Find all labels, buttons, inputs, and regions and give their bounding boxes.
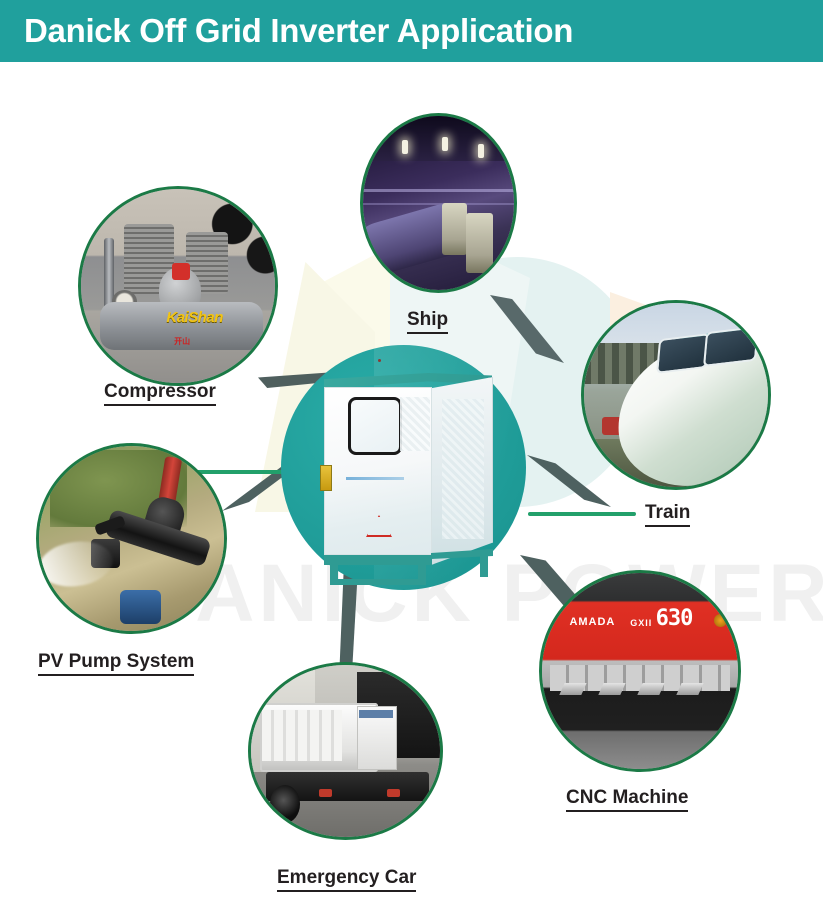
page-title: Danick Off Grid Inverter Application [24,12,573,50]
cnc-clamp-3 [637,683,664,695]
cabinet-side-vent-mesh [442,399,484,539]
compressor-red-fitting [172,263,189,280]
ship-ceiling [363,116,514,161]
cabinet-display-window [348,397,402,455]
cnc-clamp-4 [677,683,704,695]
cnc-emergency-stop-button [714,614,727,627]
label-emergency-car: Emergency Car [277,868,416,892]
emergency-car-tail-light-right [387,789,400,798]
emergency-car-photo [251,665,440,837]
pv-pump-blue-pump-body [120,590,161,623]
ship-lamp-2 [442,137,448,151]
emergency-car-bed-ribs [262,710,341,762]
compressor-brand-sub-label: 开山 [174,336,190,347]
ship-photo [363,116,514,290]
application-photo-train[interactable] [581,300,771,490]
ship-lamp-1 [402,140,408,154]
application-photo-compressor[interactable]: KaiShan 开山 [78,186,278,386]
cnc-model-number-label: 630 [656,606,693,631]
cabinet-top-dot [378,359,381,362]
train-photo [584,303,768,487]
train-windshield-left [656,333,710,374]
cnc-brand-label: AMADA [569,616,615,628]
cabinet-warning-triangle-icon [366,515,388,533]
emergency-car-cabinet-top-panel [359,710,393,719]
ship-equipment-cabinet-1 [442,203,468,255]
cnc-model-prefix-label: GXII [630,618,652,628]
cabinet-leg-3 [480,555,488,577]
cabinet-base-front [324,555,432,565]
cabinet-model-text-line [346,477,404,480]
cabinet-front-vent-mesh [400,397,430,451]
application-diagram-page: Danick Off Grid Inverter Application DAN… [0,0,823,898]
ship-equipment-cabinet-2 [466,213,493,272]
ship-lamp-3 [478,144,484,158]
cnc-clamp-2 [598,683,625,695]
cabinet-door-latch [320,465,332,491]
label-compressor: Compressor [104,382,216,406]
pointer-line-train [528,512,636,516]
label-ship: Ship [407,310,448,334]
label-train: Train [645,503,690,527]
label-pv-pump-system: PV Pump System [38,652,194,676]
compressor-photo: KaiShan 开山 [81,189,275,383]
ship-handrail-upper [363,189,514,192]
emergency-car-wheel [270,785,300,823]
inverter-cabinet-illustration [318,373,496,588]
cnc-machine-photo: AMADA GXII 630 [542,573,738,769]
application-photo-ship[interactable] [360,113,517,293]
application-photo-emergency-car[interactable] [248,662,443,840]
application-photo-pv-pump-system[interactable] [36,443,227,634]
cabinet-base-rail [330,579,426,585]
cnc-clamp-1 [559,683,586,695]
train-windshield-right [703,326,759,367]
page-header-banner: Danick Off Grid Inverter Application [0,0,823,62]
application-photo-cnc-machine[interactable]: AMADA GXII 630 [539,570,741,772]
emergency-car-tail-light-left [319,789,332,798]
pv-pump-photo [39,446,224,631]
compressor-brand-label: KaiShan [166,309,223,326]
label-cnc-machine: CNC Machine [566,788,688,812]
